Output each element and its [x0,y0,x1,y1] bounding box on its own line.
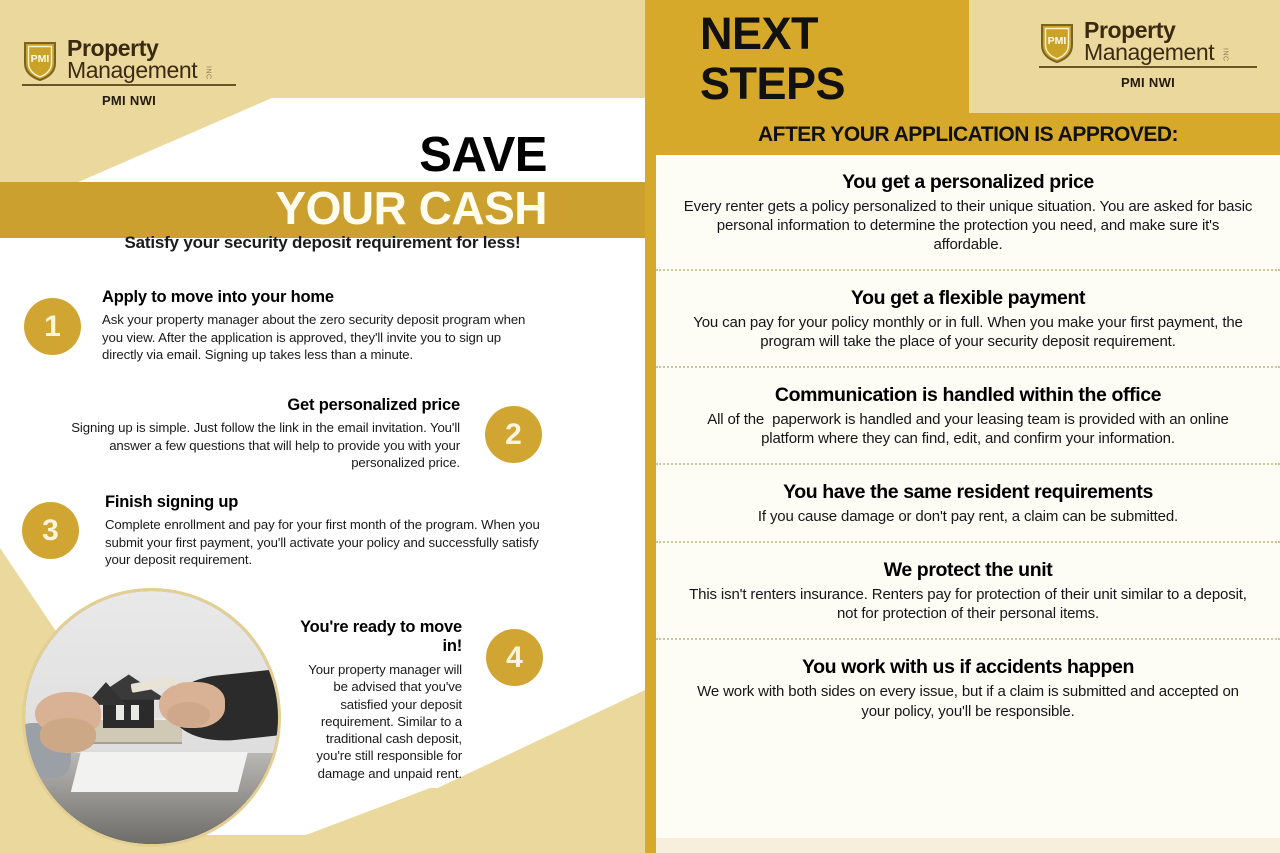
right-header-title: NEXT STEPS [700,9,845,110]
right-section-title: We protect the unit [682,559,1254,582]
svg-text:PMI: PMI [1048,35,1067,47]
logo-name-line2: Management [1084,39,1214,65]
right-section-title: Communication is handled within the offi… [682,384,1254,407]
step-body-1: Ask your property manager about the zero… [102,311,542,364]
right-section-title: You work with us if accidents happen [682,656,1254,679]
step-item-3: 3 Finish signing up Complete enrollment … [105,493,540,569]
right-panel-footer-strip [656,838,1280,853]
right-section-item: You get a personalized price Every rente… [656,155,1280,269]
logo-wordmark: Property Management INC [1084,20,1214,63]
step-title-1: Apply to move into your home [102,288,542,307]
step-title-2: Get personalized price [60,396,460,415]
vertical-divider-bar [645,0,656,853]
right-header-subtitle: AFTER YOUR APPLICATION IS APPROVED: [656,123,1280,147]
right-section-title: You get a flexible payment [682,287,1254,310]
right-section-body: You can pay for your policy monthly or i… [682,313,1254,351]
right-section-body: If you cause damage or don't pay rent, a… [682,507,1254,526]
logo-divider-rule [1039,66,1257,68]
infographic-poster: PMI Property Management INC PMI NWI SAVE… [0,0,1280,853]
logo-row: PMI Property Management INC [1039,20,1269,63]
right-section-title: You get a personalized price [682,171,1254,194]
left-panel: PMI Property Management INC PMI NWI SAVE… [0,0,645,853]
photo-house-window-left [116,705,124,720]
headline-save: SAVE [0,131,645,180]
headline-your-cash: YOUR CASH [0,183,645,235]
logo-row: PMI Property Management INC [22,38,247,81]
right-sections-list: You get a personalized price Every rente… [656,155,1280,736]
right-section-title: You have the same resident requirements [682,481,1254,504]
right-section-item: You work with us if accidents happen We … [656,638,1280,735]
step-number-badge-2: 2 [485,406,542,463]
logo-name-line2: Management [67,57,197,83]
right-section-body: We work with both sides on every issue, … [682,682,1254,720]
right-section-body: Every renter gets a policy personalized … [682,197,1254,254]
step-number-badge-1: 1 [24,298,81,355]
step-number-badge-4: 4 [486,629,543,686]
pmi-logo-right: PMI Property Management INC PMI NWI [1039,20,1269,90]
photo-house-window-right [131,705,139,720]
right-panel: NEXT STEPS PMI Property Management INC P… [656,0,1280,853]
photo-left-hand-fingers [40,718,96,753]
right-section-body: This isn't renters insurance. Renters pa… [682,585,1254,623]
step-number-badge-3: 3 [22,502,79,559]
handshake-key-exchange-photo [22,588,281,847]
right-section-item: We protect the unit This isn't renters i… [656,541,1280,638]
step-body-4: Your property manager will be advised th… [300,661,462,782]
step-item-2: 2 Get personalized price Signing up is s… [60,396,460,472]
svg-text:PMI: PMI [31,53,50,65]
step-item-1: 1 Apply to move into your home Ask your … [102,288,542,364]
right-section-body: All of the paperwork is handled and your… [682,410,1254,448]
logo-divider-rule [22,84,236,86]
step-item-4: 4 You're ready to move in! Your property… [300,618,462,782]
step-body-3: Complete enrollment and pay for your fir… [105,516,540,569]
pmi-logo-left: PMI Property Management INC PMI NWI [22,38,247,108]
headline-subtitle: Satisfy your security deposit requiremen… [0,233,645,253]
photo-right-hand-fingers [167,702,210,727]
right-section-item: You get a flexible payment You can pay f… [656,269,1280,366]
right-section-item: You have the same resident requirements … [656,463,1280,541]
logo-franchise-name: PMI NWI [1039,75,1257,90]
pmi-shield-icon: PMI [1039,21,1075,63]
step-title-3: Finish signing up [105,493,540,512]
logo-inc-mark: INC [1221,48,1228,62]
pmi-shield-icon: PMI [22,39,58,81]
logo-inc-mark: INC [204,66,211,80]
logo-wordmark: Property Management INC [67,38,197,81]
photo-laptop [70,750,248,792]
step-body-2: Signing up is simple. Just follow the li… [60,419,460,472]
right-section-item: Communication is handled within the offi… [656,366,1280,463]
logo-franchise-name: PMI NWI [22,93,236,108]
step-title-4: You're ready to move in! [300,618,462,657]
